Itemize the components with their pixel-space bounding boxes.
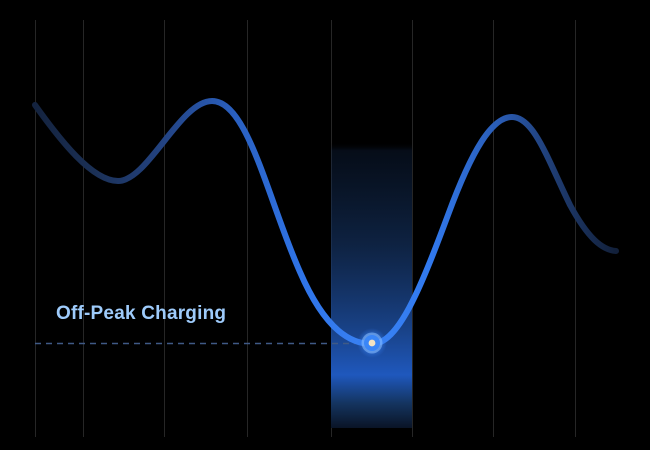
marker-core <box>369 340 376 347</box>
chart-canvas <box>0 0 650 450</box>
off-peak-charging-chart: Off-Peak Charging <box>0 0 650 450</box>
gridlines <box>36 20 576 437</box>
off-peak-highlight-band <box>331 20 412 428</box>
off-peak-charging-label: Off-Peak Charging <box>56 303 226 325</box>
off-peak-marker[interactable] <box>357 328 387 358</box>
